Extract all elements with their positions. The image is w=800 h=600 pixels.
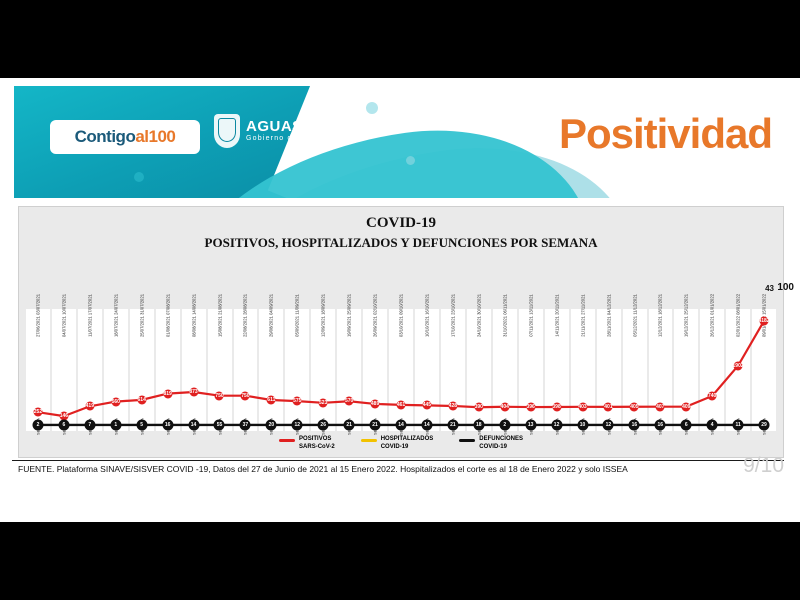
data-label-positivos: 750 (215, 393, 223, 399)
data-label-defunciones: 4 (711, 422, 714, 428)
chart-card: COVID-19 POSITIVOS, HOSPITALIZADOS Y DEF… (18, 206, 784, 458)
data-label-defunciones: 18 (476, 422, 482, 428)
page-title: Positividad (559, 110, 772, 158)
data-label-positivos: 570 (345, 398, 353, 404)
legend-name-hospitalizados: HOSPITALIZADOS (381, 436, 434, 444)
data-label-positivos: 404 (501, 404, 509, 410)
chart-markers: 2521464195606148198737507506115755235704… (25, 259, 777, 431)
data-label-positivos: 873 (189, 389, 197, 395)
data-label-positivos: 611 (267, 397, 275, 403)
legend-sub-defunciones: COVID-19 (479, 444, 523, 452)
data-label-positivos: 461 (397, 402, 405, 408)
data-label-defunciones: 10 (580, 422, 586, 428)
legend-item-defunciones: DEFUNCIONES COVID-19 (459, 436, 523, 451)
legend-swatch-hospitalizados (361, 439, 377, 442)
chart-title: COVID-19 (19, 215, 783, 232)
data-label-positivos: 419 (86, 403, 94, 409)
data-label-positivos: 819 (163, 391, 171, 397)
data-label-positivos: 750 (241, 393, 249, 399)
legend-sub-hospitalizados: COVID-19 (381, 444, 434, 452)
data-label-positivos: 407 (656, 404, 664, 410)
extra-label-big: 100 (777, 282, 794, 293)
legend-label-hospitalizados: HOSPITALIZADOS COVID-19 (381, 436, 434, 451)
state-sub-text: Gobierno del Estado (246, 134, 392, 144)
data-label-defunciones: 12 (606, 422, 612, 428)
legend-name-positivos: POSITIVOS (299, 436, 335, 444)
logo-aguascalientes: AGUASCALIENTES Gobierno del Estado (214, 114, 392, 148)
data-label-defunciones: 2 (37, 422, 40, 428)
data-label-defunciones: 16 (632, 422, 638, 428)
slide: Contigoal100 AGUASCALIENTES Gobierno del… (0, 78, 800, 522)
virus-icon (366, 102, 378, 114)
legend-label-defunciones: DEFUNCIONES COVID-19 (479, 436, 523, 451)
chart-plot-area: 27/06/2021 03/07/2021SEMANA04/07/2021 10… (25, 259, 777, 431)
data-label-defunciones: 14 (398, 422, 404, 428)
data-label-positivos: 396 (526, 404, 534, 410)
data-label-defunciones: 2 (503, 422, 506, 428)
data-label-defunciones: 5 (140, 422, 143, 428)
data-label-defunciones: 16 (165, 422, 171, 428)
data-label-positivos: 146 (60, 413, 68, 419)
slide-header: Contigoal100 AGUASCALIENTES Gobierno del… (14, 86, 786, 198)
data-label-defunciones: 16 (658, 422, 664, 428)
data-label-positivos: 4182 (758, 318, 769, 324)
data-label-positivos: 445 (423, 402, 431, 408)
legend-swatch-defunciones (459, 439, 475, 442)
data-label-defunciones: 12 (554, 422, 560, 428)
data-label-defunciones: 26 (320, 422, 326, 428)
state-name-text: AGUASCALIENTES (246, 119, 392, 134)
data-label-defunciones: 37 (243, 422, 249, 428)
data-label-positivos: 252 (34, 409, 42, 415)
data-label-defunciones: 29 (761, 422, 767, 428)
data-label-defunciones: 14 (191, 422, 197, 428)
data-label-positivos: 1902 (733, 363, 744, 369)
legend-name-defunciones: DEFUNCIONES (479, 436, 523, 444)
chart-subtitle: POSITIVOS, HOSPITALIZADOS Y DEFUNCIONES … (19, 235, 783, 251)
data-label-defunciones: 55 (217, 422, 223, 428)
data-label-defunciones: 6 (63, 422, 66, 428)
data-label-defunciones: 7 (88, 422, 91, 428)
data-label-positivos: 560 (112, 399, 120, 405)
data-label-positivos: 575 (293, 398, 301, 404)
state-shield-icon (214, 114, 240, 148)
legend-sub-positivos: SARS-CoV-2 (299, 444, 335, 452)
data-label-defunciones: 14 (424, 422, 430, 428)
source-footnote: FUENTE. Plataforma SINAVE/SISVER COVID -… (18, 464, 778, 474)
data-label-defunciones: 11 (735, 422, 740, 428)
data-label-defunciones: 21 (372, 422, 378, 428)
legend-label-positivos: POSITIVOS SARS-CoV-2 (299, 436, 335, 451)
data-label-defunciones: 13 (528, 422, 534, 428)
page-number: 9/10 (743, 454, 784, 478)
legend-swatch-positivos (279, 439, 295, 442)
data-label-positivos: 428 (449, 403, 457, 409)
logo-al100-text: al100 (135, 127, 175, 147)
chart-legend: POSITIVOS SARS-CoV-2 HOSPITALIZADOS COVI… (19, 436, 783, 451)
virus-icon (406, 156, 415, 165)
legend-item-hospitalizados: HOSPITALIZADOS COVID-19 (361, 436, 434, 451)
data-label-positivos: 403 (578, 404, 586, 410)
logo-contigo-text: Contigo (75, 127, 136, 147)
legend-item-positivos: POSITIVOS SARS-CoV-2 (279, 436, 335, 451)
data-label-positivos: 405 (630, 404, 638, 410)
data-label-defunciones: 12 (294, 422, 300, 428)
data-label-positivos: 398 (552, 404, 560, 410)
footer-divider (12, 460, 784, 461)
data-label-positivos: 614 (138, 397, 146, 403)
logo-contigo-al-100: Contigoal100 (50, 120, 200, 154)
data-label-defunciones: 6 (685, 422, 688, 428)
data-label-positivos: 740 (708, 393, 716, 399)
data-label-positivos: 523 (319, 400, 327, 406)
virus-icon (134, 172, 144, 182)
data-label-positivos: 401 (604, 404, 612, 410)
extra-label-small: 43 (765, 284, 774, 293)
screen: Contigoal100 AGUASCALIENTES Gobierno del… (0, 0, 800, 600)
data-label-defunciones: 21 (346, 422, 352, 428)
data-label-positivos: 489 (371, 401, 379, 407)
data-label-positivos: 390 (475, 404, 483, 410)
data-label-defunciones: 1 (114, 422, 117, 428)
data-label-positivos: 409 (682, 404, 690, 410)
data-label-defunciones: 20 (269, 422, 275, 428)
data-label-defunciones: 21 (450, 422, 456, 428)
